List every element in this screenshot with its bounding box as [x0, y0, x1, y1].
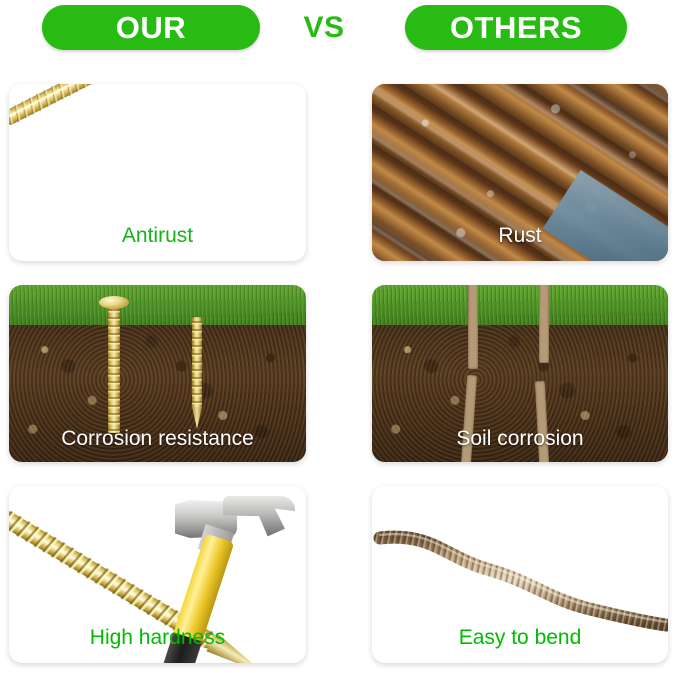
card-caption: Antirust: [9, 224, 306, 248]
grass-layer: [372, 285, 668, 325]
card-caption: Easy to bend: [372, 626, 668, 650]
card-caption: Corrosion resistance: [9, 427, 306, 451]
vs-label: VS: [303, 11, 344, 45]
screw-threads: [9, 84, 230, 126]
our-pill-label: OUR: [116, 10, 186, 46]
others-pill-badge: OTHERS: [405, 5, 627, 50]
rebar-segment: [468, 285, 478, 369]
screw-rings: [108, 305, 120, 433]
card-our-antirust: Antirust: [9, 84, 306, 261]
others-pill-label: OTHERS: [450, 10, 582, 46]
card-caption: Rust: [372, 224, 668, 248]
card-caption: Soil corrosion: [372, 427, 668, 451]
comparison-infographic: OUR VS OTHERS Antirust: [0, 0, 679, 673]
card-others-rust: Rust: [372, 84, 668, 261]
card-our-corrosion-resistance: Corrosion resistance: [9, 285, 306, 462]
comparison-grid: Antirust Rust: [0, 62, 679, 673]
corroded-rebar-upper-left: [468, 285, 478, 369]
vs-separator: VS: [297, 8, 351, 48]
card-others-soil-corrosion: Soil corrosion: [372, 285, 668, 462]
rebar-curve-ribs: [380, 537, 666, 625]
corroded-rebar-upper-right: [539, 285, 549, 363]
card-others-easy-to-bend: Easy to bend: [372, 486, 668, 663]
gold-screw-graphic: [9, 84, 266, 129]
buried-gold-screw-right: [192, 317, 202, 409]
header-bar: OUR VS OTHERS: [0, 0, 679, 62]
screw-head: [99, 296, 129, 309]
buried-gold-screw-left: [108, 305, 120, 433]
grass-layer: [9, 285, 306, 325]
card-our-high-hardness: High hardness: [9, 486, 306, 663]
rebar-segment: [539, 285, 549, 363]
card-caption: High hardness: [9, 626, 306, 650]
screw-rings: [192, 317, 202, 409]
our-pill-badge: OUR: [42, 5, 260, 50]
